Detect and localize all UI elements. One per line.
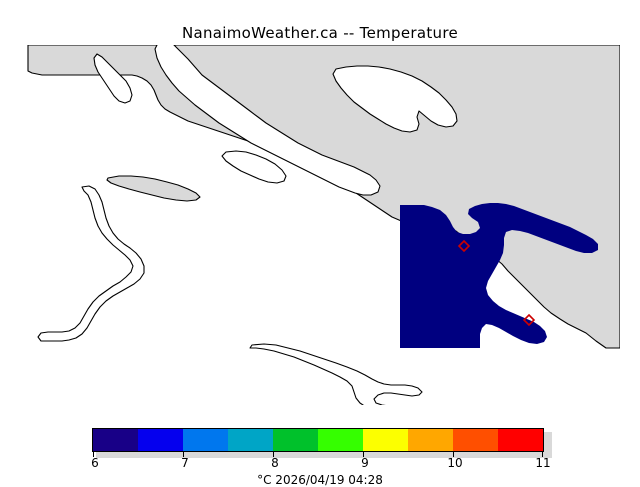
colorbar-swatch-2 [183,429,228,451]
colorbar-legend: 6 7 8 9 10 11 °C 2026/04/19 04:28 [0,424,640,480]
colorbar-caption: °C 2026/04/19 04:28 [0,473,640,487]
colorbar-label-5: 11 [535,456,550,470]
colorbar-swatch-5 [318,429,363,451]
colorbar-label-4: 10 [447,456,462,470]
colorbar-label-3: 9 [361,456,369,470]
map-plot-area[interactable] [20,45,620,405]
colorbar-swatches[interactable] [92,428,544,452]
map-graphic [20,45,620,405]
colorbar-swatch-8 [453,429,498,451]
colorbar-swatch-4 [273,429,318,451]
colorbar-swatch-3 [228,429,273,451]
colorbar-swatch-9 [498,429,543,451]
page-title: NanaimoWeather.ca -- Temperature [0,24,640,42]
colorbar-label-0: 6 [91,456,99,470]
colorbar-swatch-1 [138,429,183,451]
colorbar-swatch-7 [408,429,453,451]
colorbar-label-2: 8 [271,456,279,470]
colorbar-label-1: 7 [181,456,189,470]
colorbar-swatch-0 [93,429,138,451]
colorbar-swatch-6 [363,429,408,451]
